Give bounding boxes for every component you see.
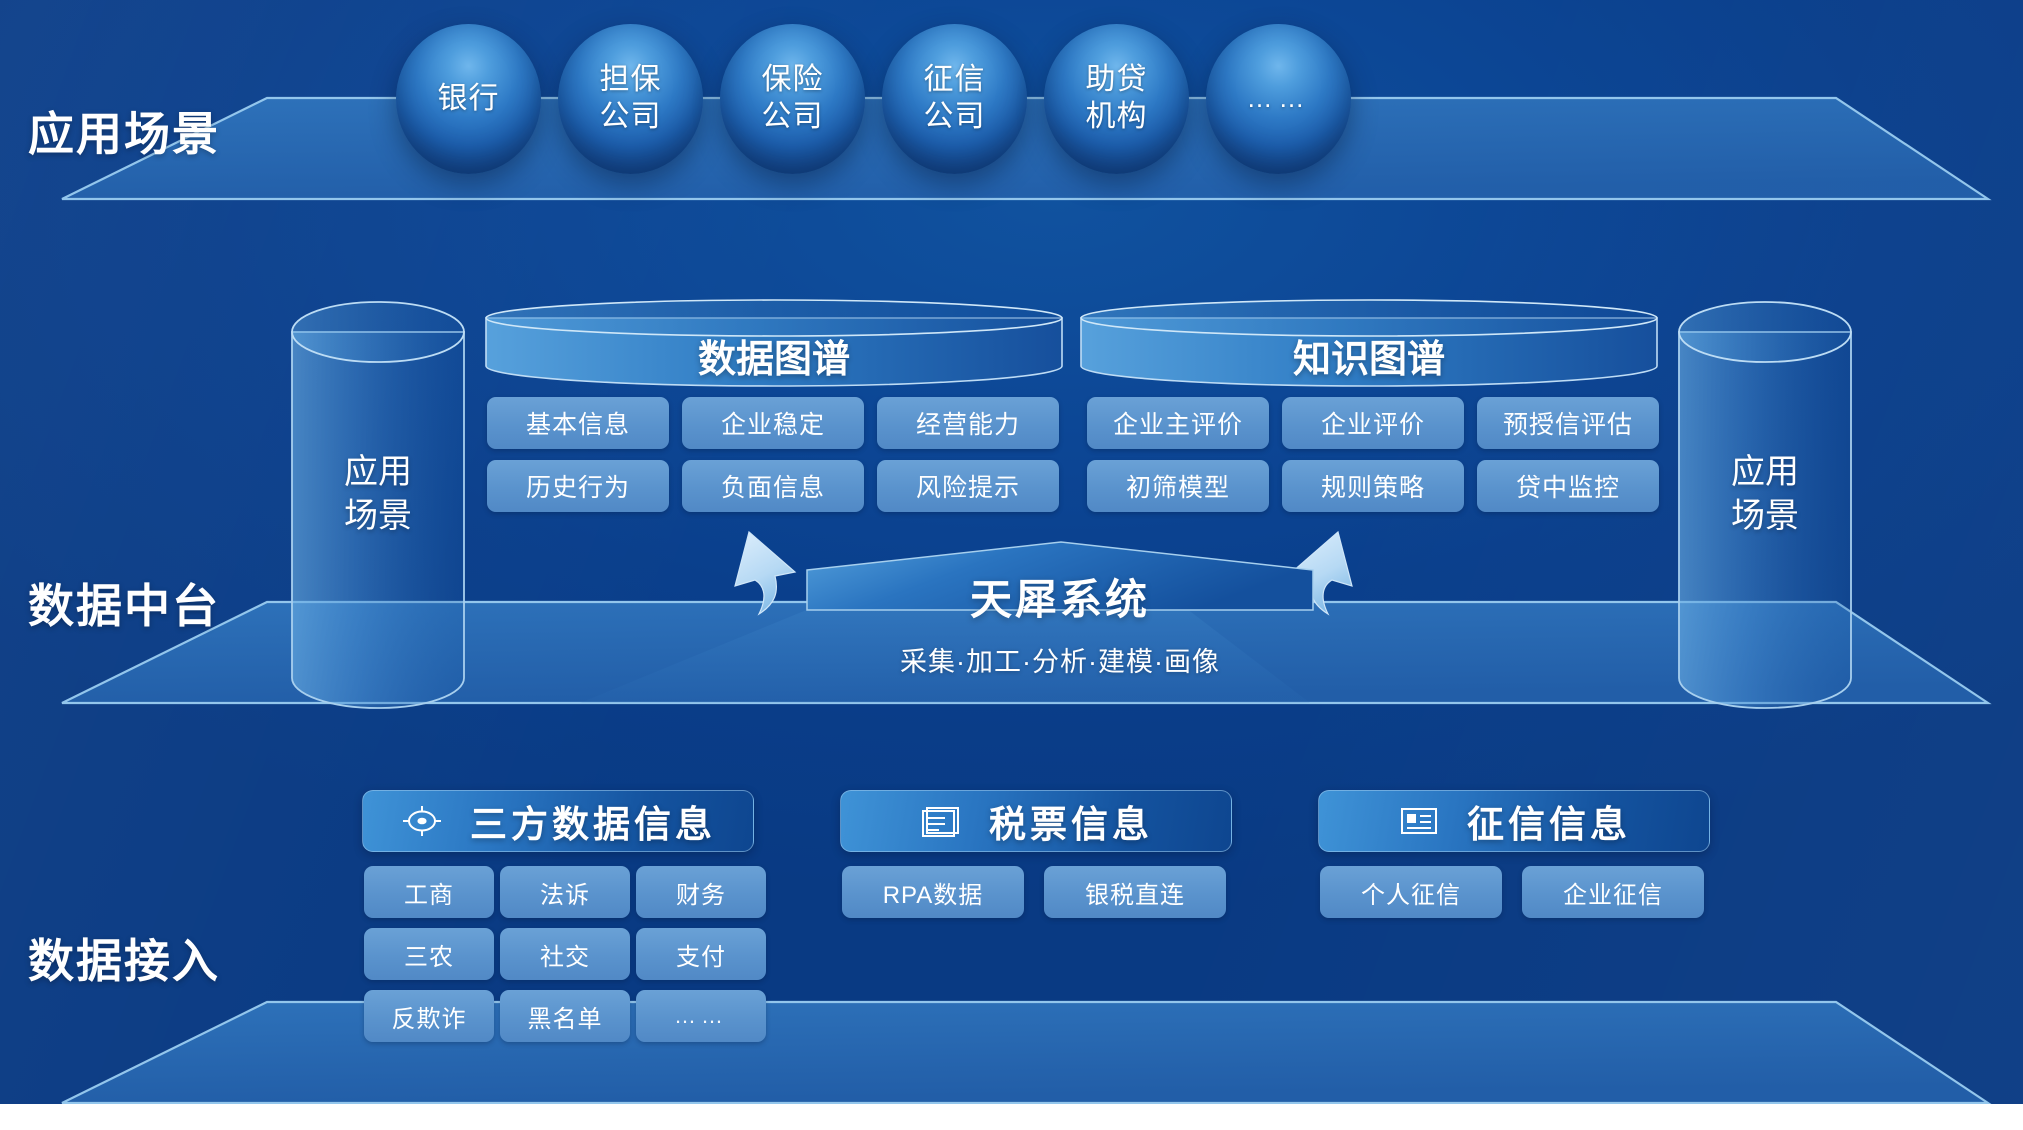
tianxi-system-title: 天犀系统 xyxy=(805,566,1315,627)
disc-knowledge-graph-title: 知识图谱 xyxy=(1078,328,1660,383)
disc-knowledge-graph[interactable]: 知识图谱 xyxy=(1078,298,1660,388)
chip-third-party-1[interactable]: 法诉 xyxy=(500,866,630,918)
chip-third-party-5[interactable]: 支付 xyxy=(636,928,766,980)
scenario-sphere-insurance-company[interactable]: 保险 公司 xyxy=(720,24,865,174)
source-header-tax-invoice[interactable]: 税票信息 xyxy=(840,790,1232,852)
chip-credit-0[interactable]: 个人征信 xyxy=(1320,866,1502,918)
scenario-sphere-more[interactable]: …… xyxy=(1206,24,1351,174)
source-header-third-party-data[interactable]: 三方数据信息 xyxy=(362,790,754,852)
chip-data-graph-5[interactable]: 风险提示 xyxy=(877,460,1059,512)
scenario-sphere-credit-company[interactable]: 征信 公司 xyxy=(882,24,1027,174)
chip-third-party-3[interactable]: 三农 xyxy=(364,928,494,980)
chip-third-party-8[interactable]: …… xyxy=(636,990,766,1042)
scenario-sphere-label: …… xyxy=(1247,83,1311,115)
cylinder-right-label: 应用 场景 xyxy=(1675,450,1855,538)
bottom-white-strip xyxy=(0,1104,2023,1130)
chip-third-party-4[interactable]: 社交 xyxy=(500,928,630,980)
chip-data-graph-1[interactable]: 企业稳定 xyxy=(682,397,864,449)
chip-third-party-2[interactable]: 财务 xyxy=(636,866,766,918)
scenario-sphere-label: 担保 公司 xyxy=(600,62,662,135)
platform-data-access xyxy=(0,1000,2023,1110)
cylinder-left-label: 应用 场景 xyxy=(288,450,468,538)
chip-knowledge-graph-5[interactable]: 贷中监控 xyxy=(1477,460,1659,512)
architecture-diagram: 应用场景 数据中台 数据接入 银行 担保 公司 保险 公司 征信 公司 助贷 机… xyxy=(0,0,2023,1130)
tier-label-data-middle-office: 数据中台 xyxy=(28,570,220,636)
chip-data-graph-4[interactable]: 负面信息 xyxy=(682,460,864,512)
chip-data-graph-3[interactable]: 历史行为 xyxy=(487,460,669,512)
source-header-title: 税票信息 xyxy=(989,794,1153,848)
scenario-sphere-label: 助贷 机构 xyxy=(1086,62,1148,135)
line-2: 机构 xyxy=(1086,100,1148,133)
line-1: 助贷 xyxy=(1086,63,1148,96)
chip-tax-1[interactable]: 银税直连 xyxy=(1044,866,1226,918)
disc-data-graph[interactable]: 数据图谱 xyxy=(483,298,1065,388)
chip-data-graph-0[interactable]: 基本信息 xyxy=(487,397,669,449)
source-header-credit-report[interactable]: 征信信息 xyxy=(1318,790,1710,852)
line-1: 保险 xyxy=(762,63,824,96)
arrow-up-left-icon xyxy=(705,528,815,620)
line-2: 公司 xyxy=(600,100,662,133)
scenario-sphere-label: 保险 公司 xyxy=(762,62,824,135)
line-2: 公司 xyxy=(762,100,824,133)
chip-tax-0[interactable]: RPA数据 xyxy=(842,866,1024,918)
chip-third-party-6[interactable]: 反欺诈 xyxy=(364,990,494,1042)
scenario-sphere-label: 银行 xyxy=(438,81,500,118)
cylinder-right-application-scenario: 应用 场景 xyxy=(1675,300,1855,710)
tianxi-system-banner[interactable]: 天犀系统 xyxy=(805,540,1315,612)
line-2: 场景 xyxy=(1731,497,1799,535)
scenario-sphere-label: 征信 公司 xyxy=(924,62,986,135)
chip-knowledge-graph-2[interactable]: 预授信评估 xyxy=(1477,397,1659,449)
scenario-sphere-bank[interactable]: 银行 xyxy=(396,24,541,174)
source-header-title: 三方数据信息 xyxy=(470,794,716,848)
tianxi-system-subtitle: 采集·加工·分析·建模·画像 xyxy=(805,640,1315,679)
line-1: 应用 xyxy=(344,453,412,491)
chip-label: …… xyxy=(674,1003,728,1029)
chip-data-graph-2[interactable]: 经营能力 xyxy=(877,397,1059,449)
line-1: 征信 xyxy=(924,63,986,96)
line-1: 应用 xyxy=(1731,453,1799,491)
id-card-icon xyxy=(1397,803,1441,839)
scenario-sphere-loan-facilitator[interactable]: 助贷 机构 xyxy=(1044,24,1189,174)
chip-knowledge-graph-3[interactable]: 初筛模型 xyxy=(1087,460,1269,512)
disc-data-graph-title: 数据图谱 xyxy=(483,328,1065,383)
tier-label-application-scenario: 应用场景 xyxy=(28,98,220,164)
chip-third-party-0[interactable]: 工商 xyxy=(364,866,494,918)
source-header-title: 征信信息 xyxy=(1467,794,1631,848)
line-2: 场景 xyxy=(344,497,412,535)
tier-label-data-access: 数据接入 xyxy=(28,925,220,991)
chip-credit-1[interactable]: 企业征信 xyxy=(1522,866,1704,918)
line-2: 公司 xyxy=(924,100,986,133)
chip-knowledge-graph-4[interactable]: 规则策略 xyxy=(1282,460,1464,512)
cylinder-left-application-scenario: 应用 场景 xyxy=(288,300,468,710)
scenario-sphere-guarantee-company[interactable]: 担保 公司 xyxy=(558,24,703,174)
chip-knowledge-graph-0[interactable]: 企业主评价 xyxy=(1087,397,1269,449)
chip-third-party-7[interactable]: 黑名单 xyxy=(500,990,630,1042)
crosshair-target-icon xyxy=(400,803,444,839)
chip-knowledge-graph-1[interactable]: 企业评价 xyxy=(1282,397,1464,449)
line-1: 担保 xyxy=(600,63,662,96)
invoice-document-icon xyxy=(919,803,963,839)
